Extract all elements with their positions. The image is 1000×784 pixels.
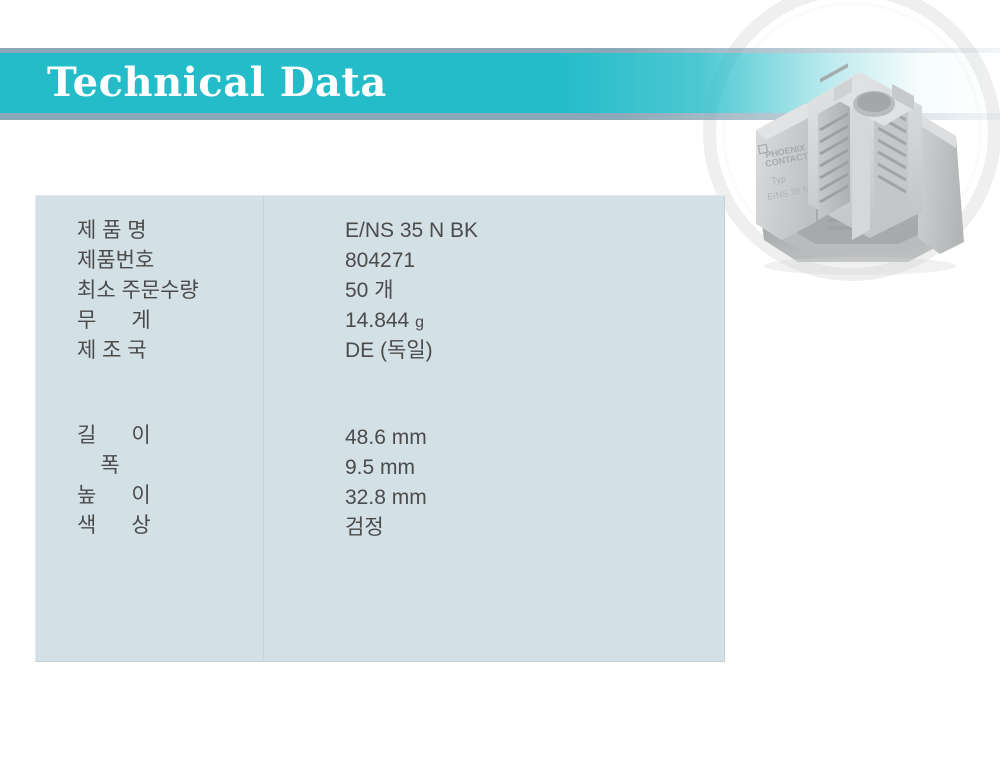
table-row: 제 조 국 DE (독일): [36, 336, 724, 366]
table-row: 폭 9.5 mm: [36, 451, 724, 481]
row-value-width: 9.5 mm: [345, 453, 415, 483]
dimensions-group: 길 이 48.6 mm 폭 9.5 mm 높 이 32.8 mm 색 상 검정: [36, 421, 724, 541]
row-label-country-of-origin: 제 조 국: [77, 336, 257, 366]
table-row: 길 이 48.6 mm: [36, 421, 724, 451]
row-label-min-order-qty: 최소 주문수량: [77, 276, 257, 306]
table-row: 최소 주문수량 50 개: [36, 276, 724, 306]
row-label-width: 폭: [77, 451, 257, 481]
page-title: Technical Data: [47, 56, 387, 110]
row-value-min-order-qty: 50 개: [345, 276, 394, 306]
row-value-height: 32.8 mm: [345, 483, 427, 513]
table-row: 제품번호 804271: [36, 246, 724, 276]
left-wing: PHOENIX CONTACT Typ E/NS 35 N: [756, 104, 816, 240]
weight-unit: g: [415, 314, 424, 331]
row-value-length: 48.6 mm: [345, 423, 427, 453]
row-label-length: 길 이: [77, 421, 257, 451]
row-label-height: 높 이: [77, 481, 257, 511]
product-image: PHOENIX CONTACT Typ E/NS 35 N: [742, 52, 978, 280]
row-label-product-name: 제 품 명: [77, 216, 257, 246]
row-value-product-number: 804271: [345, 246, 415, 276]
weight-number: 14.844: [345, 309, 415, 332]
table-row: 무 게 14.844 g: [36, 306, 724, 336]
table-row: 색 상 검정: [36, 511, 724, 541]
row-value-color: 검정: [345, 513, 384, 543]
row-label-weight: 무 게: [77, 306, 257, 336]
row-value-product-name: E/NS 35 N BK: [345, 216, 478, 246]
row-label-product-number: 제품번호: [77, 246, 257, 276]
table-row: 제 품 명 E/NS 35 N BK: [36, 216, 724, 246]
identity-group: 제 품 명 E/NS 35 N BK 제품번호 804271 최소 주문수량 5…: [36, 216, 724, 366]
row-value-country-of-origin: DE (독일): [345, 336, 433, 366]
central-body: [808, 63, 922, 240]
technical-data-panel: 제 품 명 E/NS 35 N BK 제품번호 804271 최소 주문수량 5…: [35, 195, 725, 662]
row-label-color: 색 상: [77, 511, 257, 541]
table-row: 높 이 32.8 mm: [36, 481, 724, 511]
row-value-weight: 14.844 g: [345, 306, 424, 338]
